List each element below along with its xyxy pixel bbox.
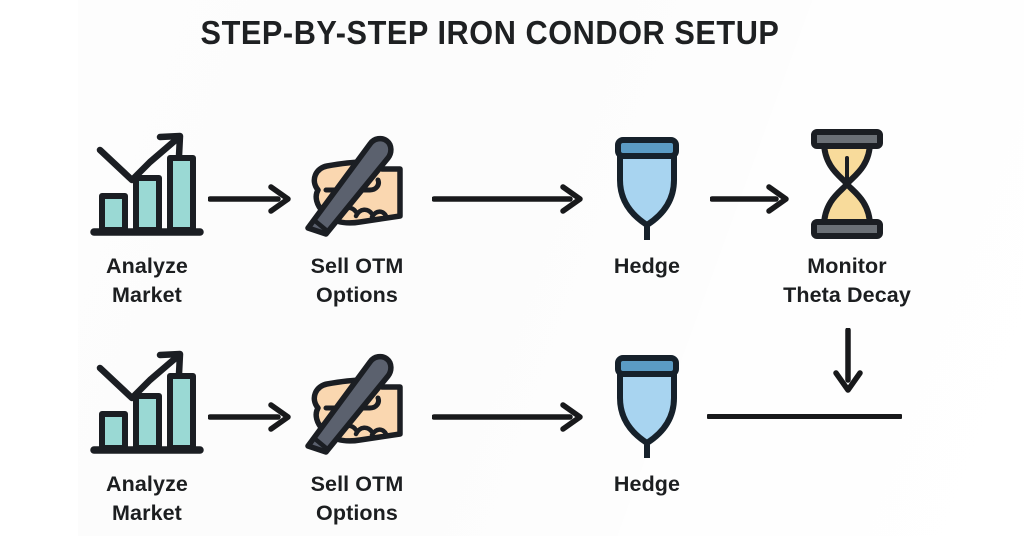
bar-chart-growth-icon [88,128,206,240]
arrow-right-icon-row1-2 [432,182,592,216]
step-label-line1: Analyze [106,472,188,496]
step-label-line2: Options [282,281,432,310]
step-label-line2: Market [72,499,222,528]
bar-chart-growth-icon-wrap [72,340,222,458]
step-label-line1: Sell OTM [311,472,404,496]
hourglass-icon-wrap [772,122,922,240]
step-hedge-row2: Hedge [572,340,722,499]
step-label: Monitor Theta Decay [772,252,922,309]
step-label-line1: Analyze [106,254,188,278]
step-label: Analyze Market [72,252,222,309]
bar-chart-growth-icon [88,346,206,458]
step-label: Hedge [572,470,722,499]
step-monitor-theta-decay-row1: Monitor Theta Decay [772,122,922,309]
infographic-canvas: STEP-BY-STEP IRON CONDOR SETUP Analyze M… [0,0,1024,536]
step-analyze-market-row1: Analyze Market [72,122,222,309]
step-label: Analyze Market [72,470,222,527]
step-label-line1: Hedge [614,254,680,278]
step-label-line2: Options [282,499,432,528]
hand-writing-pen-icon-wrap [282,122,432,240]
step-hedge-row1: Hedge [572,122,722,281]
step-label: Sell OTM Options [282,252,432,309]
shield-hedge-icon [601,128,693,240]
shield-hedge-icon [601,346,693,458]
plain-connector-line-row2 [707,414,902,419]
page-title: STEP-BY-STEP IRON CONDOR SETUP [34,14,945,52]
step-label-line1: Monitor [807,254,887,278]
arrow-right-icon-row2-2 [432,400,592,434]
hand-writing-pen-icon-wrap [282,340,432,458]
step-analyze-market-row2: Analyze Market [72,340,222,527]
step-sell-otm-options-row2: Sell OTM Options [282,340,432,527]
step-label-line2: Market [72,281,222,310]
hand-writing-pen-icon [296,128,418,240]
step-label: Hedge [572,252,722,281]
hand-writing-pen-icon [296,346,418,458]
step-label-line2: Theta Decay [772,281,922,310]
shield-hedge-icon-wrap [572,122,722,240]
bar-chart-growth-icon-wrap [72,122,222,240]
step-label-line1: Sell OTM [311,254,404,278]
shield-hedge-icon-wrap [572,340,722,458]
hourglass-icon [801,128,893,240]
arrow-down-icon [826,328,870,398]
step-label: Sell OTM Options [282,470,432,527]
step-label-line1: Hedge [614,472,680,496]
step-sell-otm-options-row1: Sell OTM Options [282,122,432,309]
